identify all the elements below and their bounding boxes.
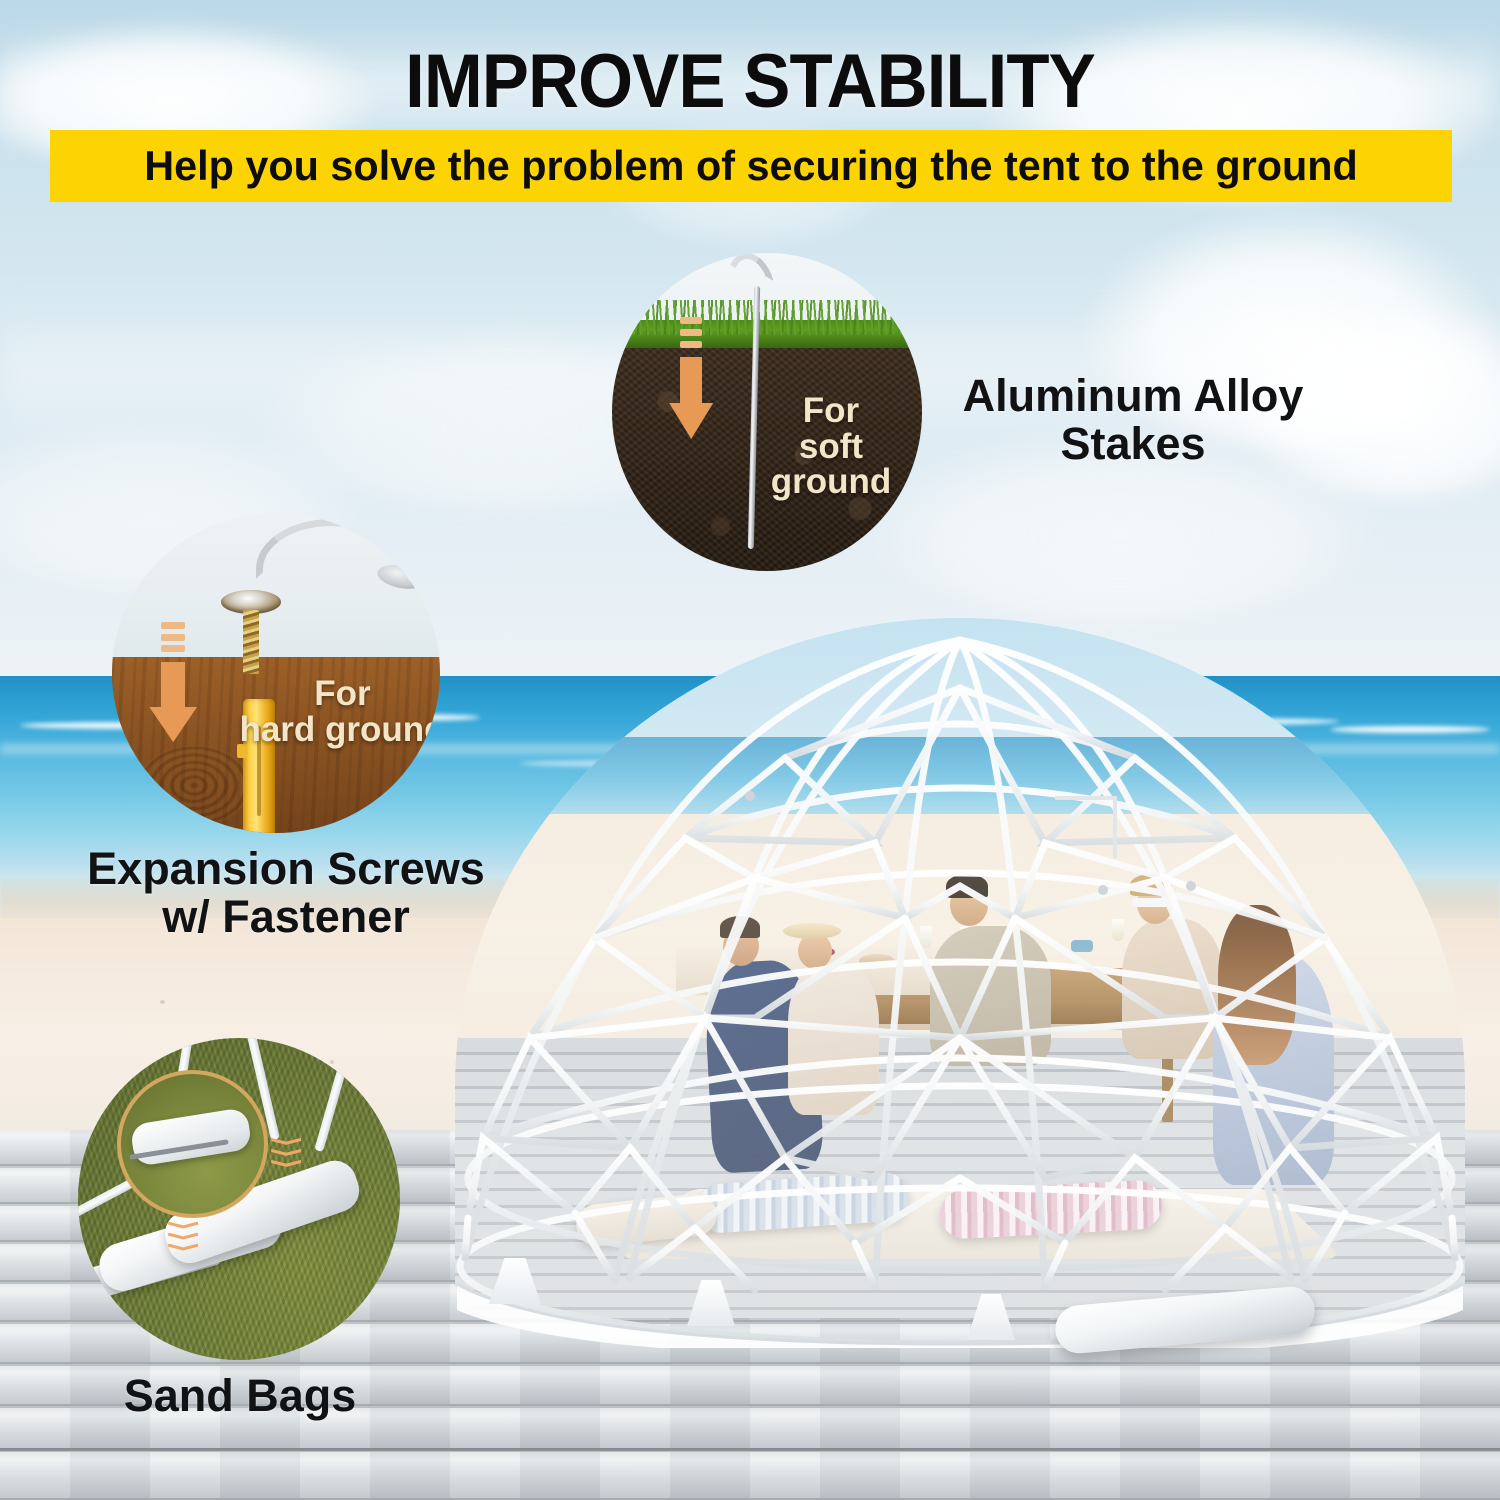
label-expansion-screws: Expansion Screws w/ Fastener <box>55 845 517 941</box>
sand-speck <box>160 1000 165 1004</box>
grass-layer <box>612 320 922 352</box>
sand-bag-detail <box>130 1107 253 1167</box>
callout-sand-bags <box>78 1038 400 1360</box>
label-line-2: Stakes <box>918 420 1348 468</box>
subtitle-banner: Help you solve the problem of securing t… <box>50 130 1452 202</box>
dome-ground-skirt <box>447 1258 1473 1348</box>
callout-soft-ground: For soft ground <box>612 253 922 571</box>
badge-line-2: hard ground <box>235 712 440 748</box>
deck-plank <box>0 1452 1500 1500</box>
badge-line-1: For <box>736 393 922 429</box>
subtitle-text: Help you solve the problem of securing t… <box>144 144 1358 188</box>
soft-ground-badge: For soft ground <box>736 393 922 500</box>
geodesic-dome-tent <box>455 618 1465 1378</box>
hard-ground-badge: For hard ground <box>235 676 440 747</box>
chevron-down-icon <box>168 1222 198 1255</box>
label-sand-bags: Sand Bags <box>80 1372 400 1420</box>
chevron-down-icon <box>271 1138 301 1171</box>
callout-hard-ground: For hard ground <box>112 513 440 833</box>
label-line-2: w/ Fastener <box>55 893 517 941</box>
page-title: IMPROVE STABILITY <box>53 44 1448 120</box>
deck-seam <box>0 1448 1500 1451</box>
label-line-1: Sand Bags <box>80 1372 400 1420</box>
down-arrow-icon <box>680 317 702 437</box>
down-arrow-icon <box>161 622 185 740</box>
sand-bag-zoom-inset <box>117 1070 268 1218</box>
label-aluminum-alloy-stakes: Aluminum Alloy Stakes <box>918 372 1348 468</box>
badge-line-2: soft ground <box>736 429 922 500</box>
badge-line-1: For <box>235 676 440 712</box>
label-line-1: Expansion Screws <box>55 845 517 893</box>
label-line-1: Aluminum Alloy <box>918 372 1348 420</box>
